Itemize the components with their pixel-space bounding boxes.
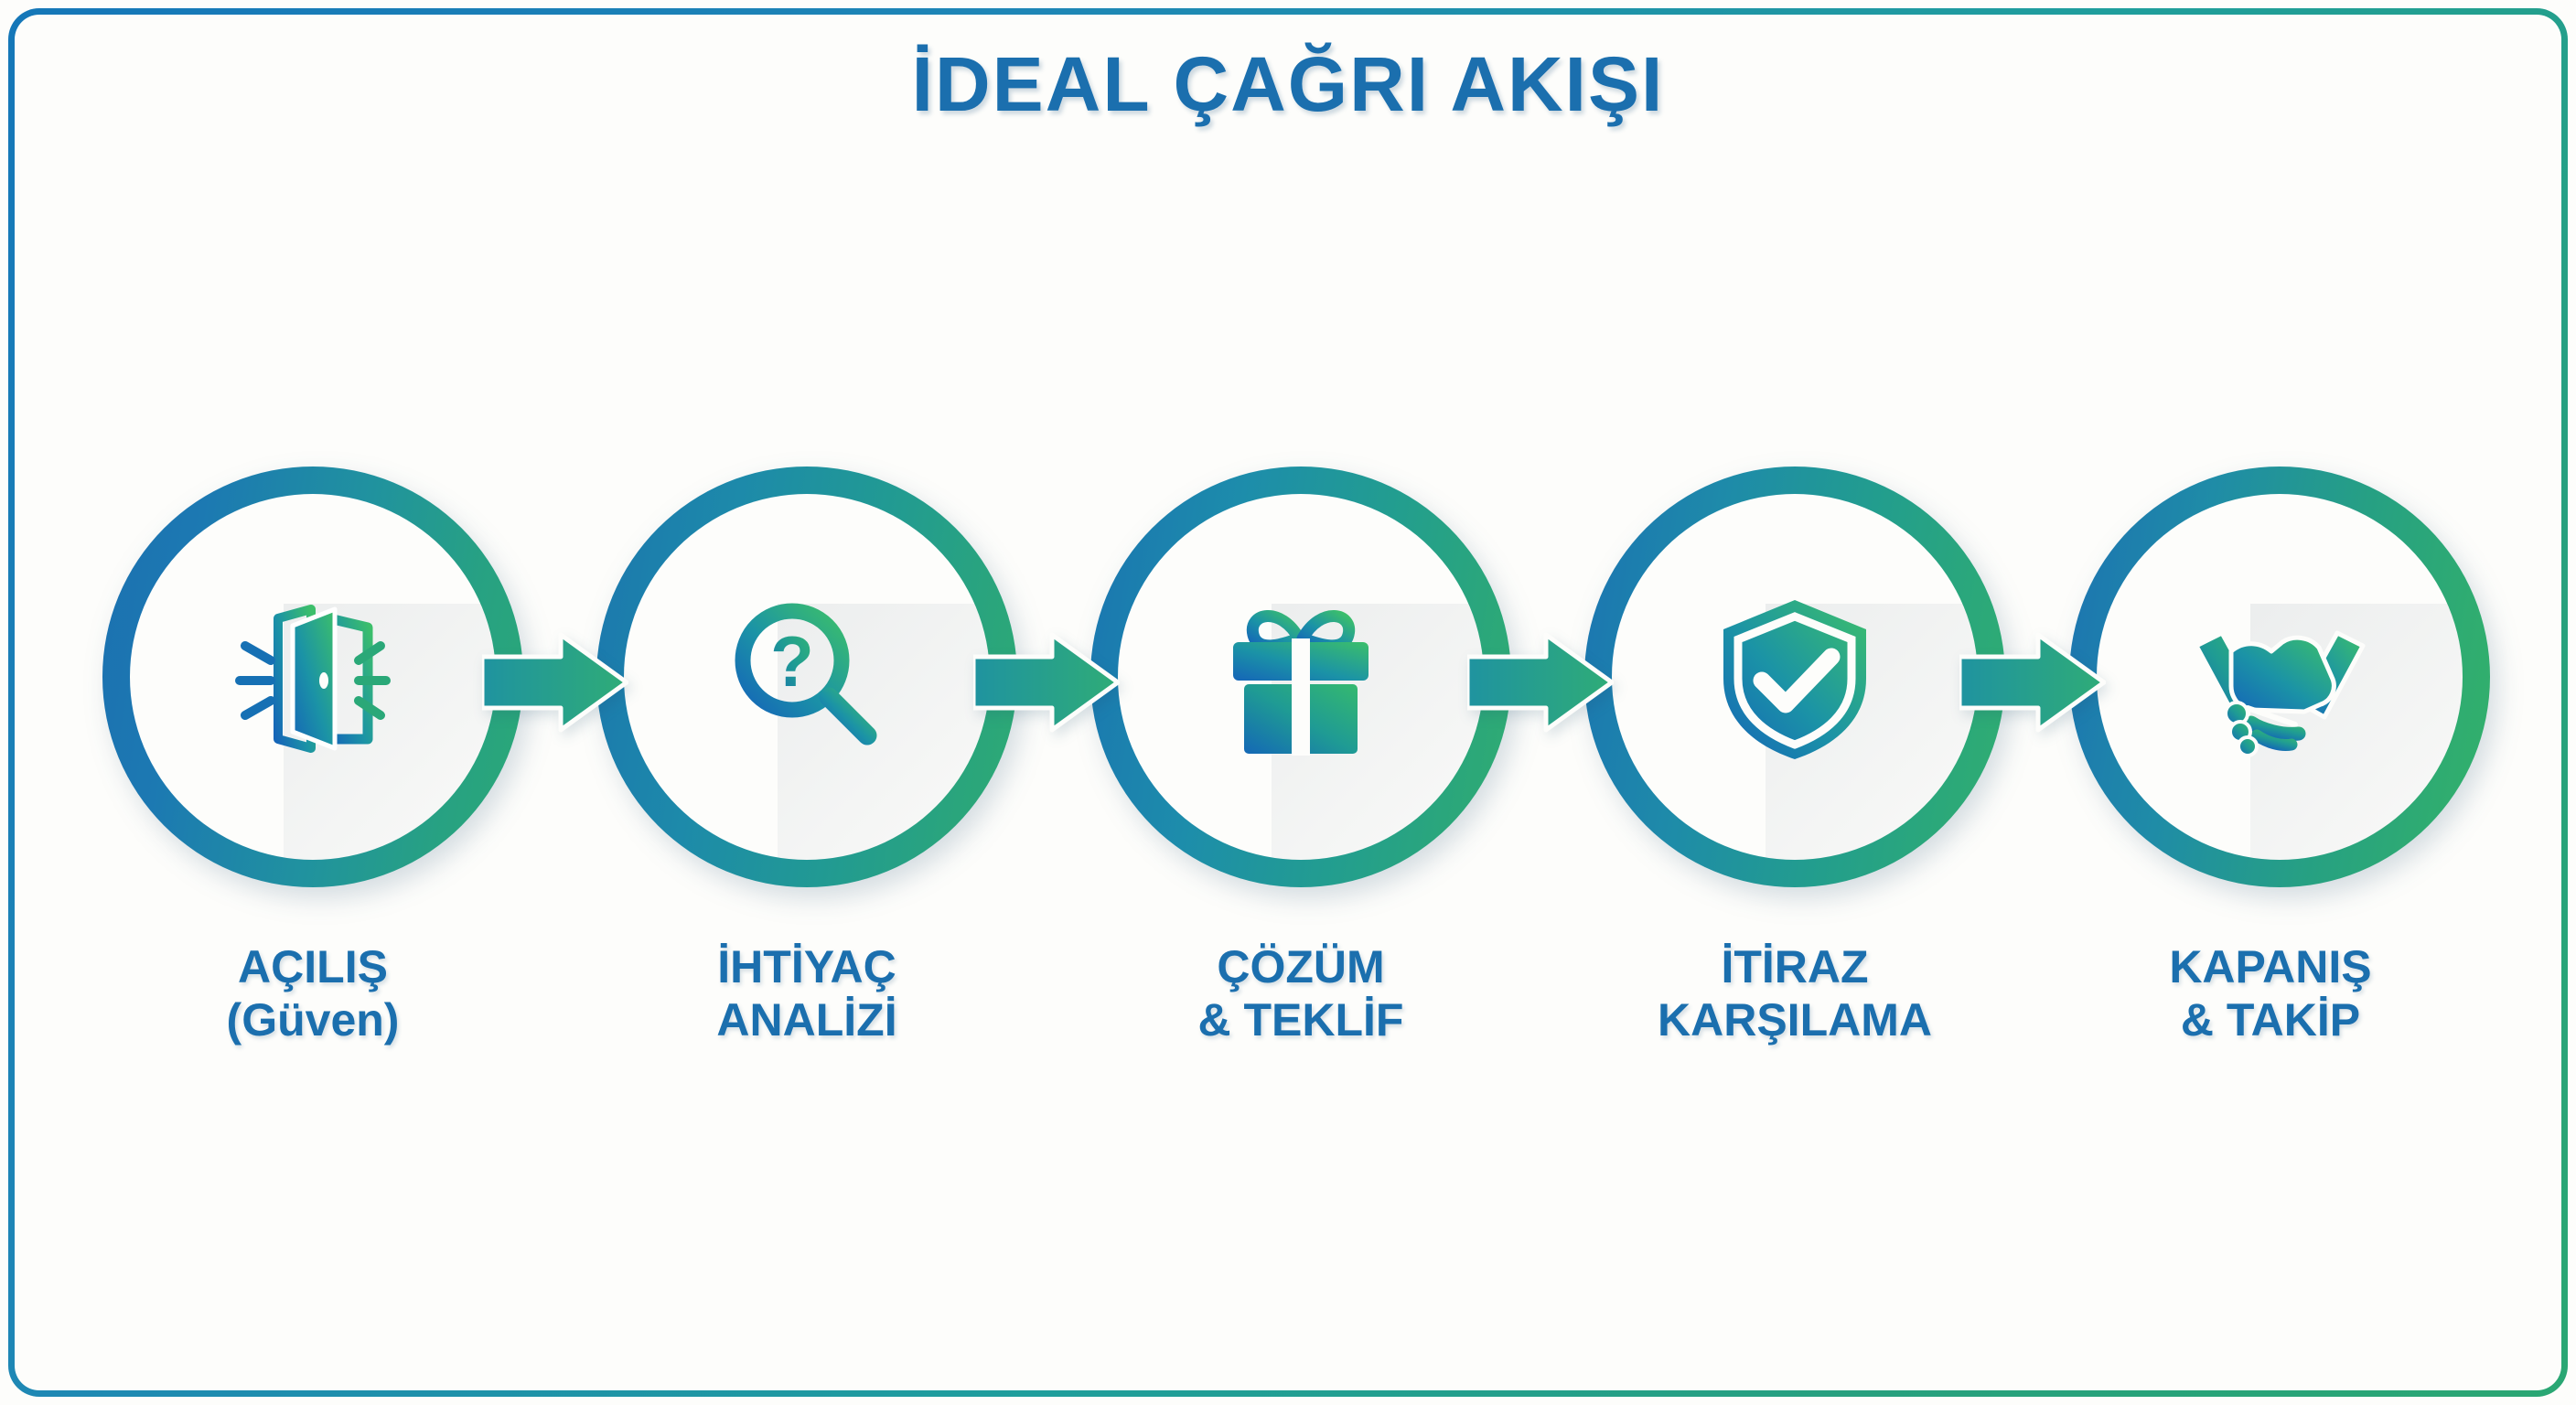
label-line-2: (Güven) [102,993,523,1046]
shield-check-icon [1699,581,1891,773]
arrow-2 [973,631,1120,734]
label-line-1: ÇÖZÜM [1090,940,1511,993]
flow-step-ihtiyac-analizi[interactable]: ? [596,467,1017,887]
process-flow: ? [102,467,2474,887]
arrow-1 [482,631,628,734]
label-line-1: İTİRAZ [1566,940,2023,993]
magnifier-question-icon: ? [711,581,903,773]
svg-text:?: ? [770,621,814,702]
flow-step-cozum-teklif[interactable] [1090,467,1511,887]
label-line-1: KAPANIŞ [2051,940,2490,993]
label-line-2: & TEKLİF [1090,993,1511,1046]
open-door-icon [217,581,409,773]
arrow-3 [1467,631,1614,734]
step-label-cozum-teklif: ÇÖZÜM & TEKLİF [1090,940,1511,1046]
page-title: İDEAL ÇAĞRI AKIŞI [0,40,2576,129]
arrow-4 [1959,631,2106,734]
infographic-canvas: İDEAL ÇAĞRI AKIŞI [0,0,2576,1405]
flow-step-acilis[interactable] [102,467,523,887]
step-labels: AÇILIŞ (Güven) İHTİYAÇ ANALİZİ ÇÖZÜM & T… [102,940,2474,1114]
label-line-1: İHTİYAÇ [596,940,1017,993]
step-label-ihtiyac-analizi: İHTİYAÇ ANALİZİ [596,940,1017,1046]
label-line-2: & TAKİP [2051,993,2490,1046]
flow-step-kapanis-takip[interactable] [2069,467,2490,887]
flow-step-itiraz-karsilama[interactable] [1584,467,2005,887]
label-line-2: KARŞILAMA [1566,993,2023,1046]
label-line-1: AÇILIŞ [102,940,523,993]
step-label-acilis: AÇILIŞ (Güven) [102,940,523,1046]
gift-box-icon [1205,581,1397,773]
handshake-icon [2184,581,2376,773]
step-label-kapanis-takip: KAPANIŞ & TAKİP [2051,940,2490,1046]
step-label-itiraz-karsilama: İTİRAZ KARŞILAMA [1566,940,2023,1046]
label-line-2: ANALİZİ [596,993,1017,1046]
